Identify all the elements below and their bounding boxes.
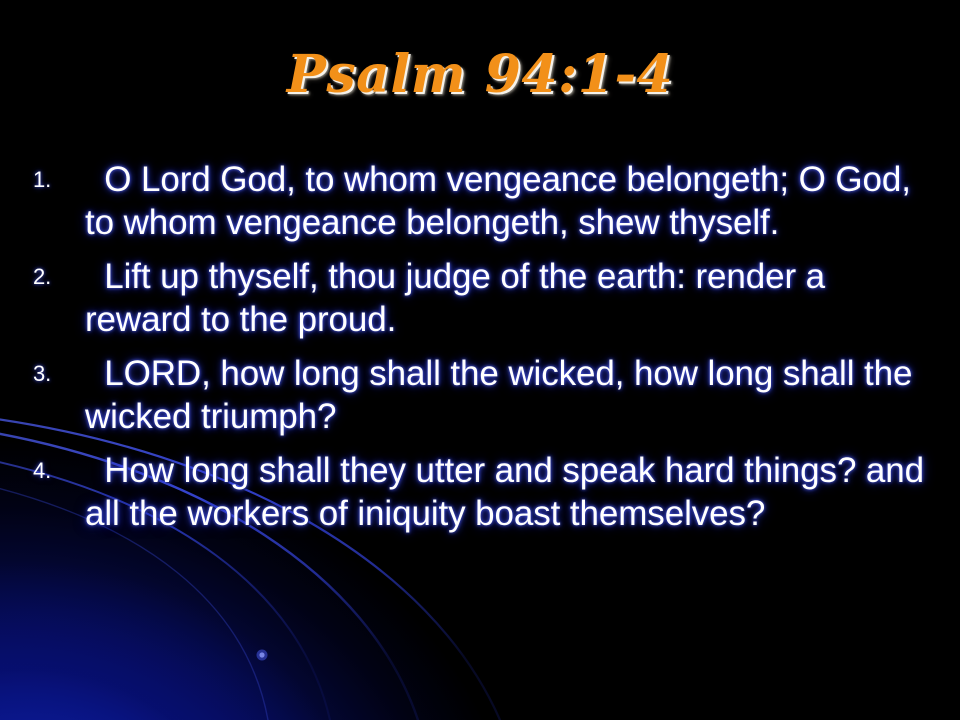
list-item: 1. O Lord God, to whom vengeance belonge… xyxy=(28,158,940,244)
arc-node-glow xyxy=(257,650,268,661)
list-item: 4. How long shall they utter and speak h… xyxy=(28,449,940,535)
presentation-slide: Psalm 94:1-4 1. O Lord God, to whom veng… xyxy=(0,0,960,720)
arc-node xyxy=(259,652,264,657)
verse-text: O Lord God, to whom vengeance belongeth;… xyxy=(85,158,940,244)
list-marker: 3. xyxy=(33,361,77,387)
list-marker: 1. xyxy=(33,167,77,193)
list-item: 3. LORD, how long shall the wicked, how … xyxy=(28,352,940,438)
verse-text: Lift up thyself, thou judge of the earth… xyxy=(85,255,940,341)
list-item: 2. Lift up thyself, thou judge of the ea… xyxy=(28,255,940,341)
list-marker: 2. xyxy=(33,264,77,290)
list-marker: 4. xyxy=(33,458,77,484)
slide-title: Psalm 94:1-4 xyxy=(0,44,960,106)
verse-text: LORD, how long shall the wicked, how lon… xyxy=(85,352,940,438)
verse-list: 1. O Lord God, to whom vengeance belonge… xyxy=(28,158,940,546)
verse-text: How long shall they utter and speak hard… xyxy=(85,449,940,535)
